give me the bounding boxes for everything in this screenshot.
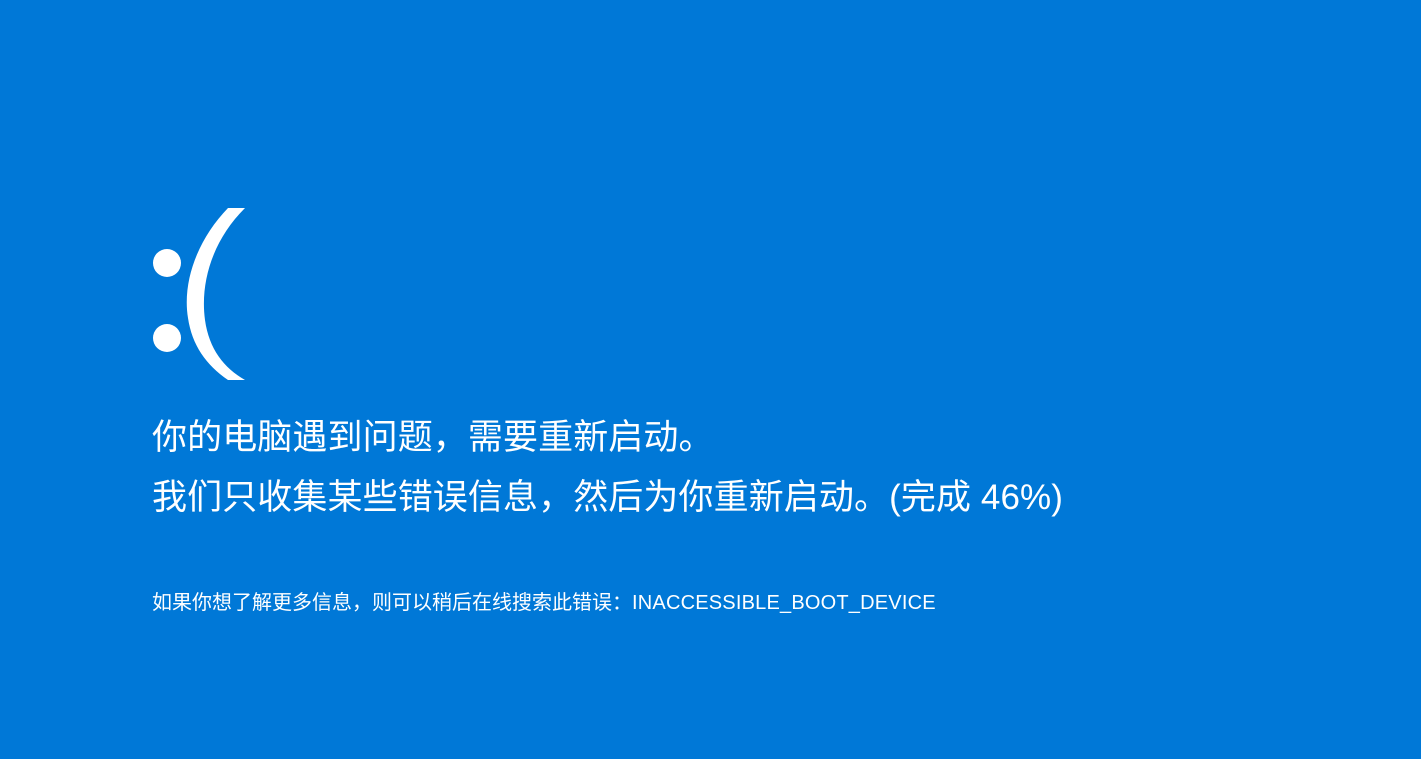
sad-face-lower-dot [153,324,181,352]
error-search-hint: 如果你想了解更多信息，则可以稍后在线搜索此错误：INACCESSIBLE_BOO… [152,588,1332,618]
message-line-secondary: 我们只收集某些错误信息，然后为你重新启动。(完成 46%) [152,468,1332,528]
message-line-primary: 你的电脑遇到问题，需要重新启动。 [152,408,1332,468]
stop-error-code: INACCESSIBLE_BOOT_DEVICE [632,592,936,614]
detail-block: 如果你想了解更多信息，则可以稍后在线搜索此错误：INACCESSIBLE_BOO… [152,588,1332,618]
message-block: 你的电脑遇到问题，需要重新启动。 我们只收集某些错误信息，然后为你重新启动。(完… [152,408,1332,528]
sad-face-upper-dot [153,249,181,277]
sad-face-paren-stroke [187,208,245,380]
error-search-hint-prefix: 如果你想了解更多信息，则可以稍后在线搜索此错误： [152,592,632,614]
sad-face-icon [150,205,260,383]
stop-error-screen: 你的电脑遇到问题，需要重新启动。 我们只收集某些错误信息，然后为你重新启动。(完… [0,0,1421,759]
